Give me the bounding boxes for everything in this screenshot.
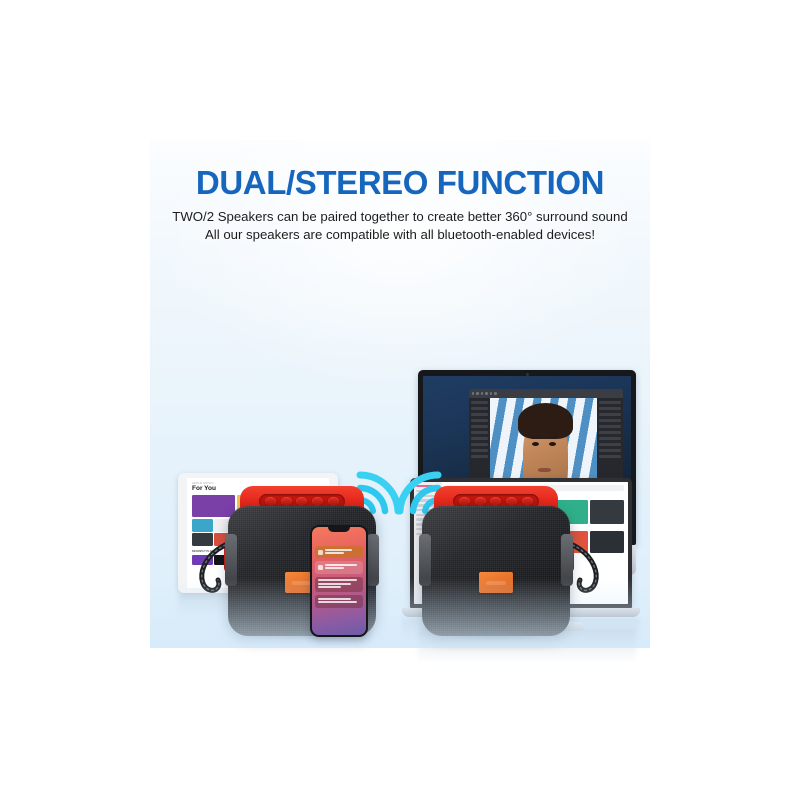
editor-titlebar xyxy=(469,389,623,398)
volume-down-button[interactable] xyxy=(475,497,486,506)
portrait-mouth xyxy=(538,468,551,472)
volume-up-button[interactable] xyxy=(506,497,517,506)
notification-card[interactable] xyxy=(315,595,363,607)
portrait-brow-right xyxy=(549,436,557,439)
portrait-eye-right xyxy=(549,442,556,446)
content-panel: DUAL/STEREO FUNCTION TWO/2 Speakers can … xyxy=(150,140,650,648)
panel-bottom-fade xyxy=(150,578,650,648)
play-pause-button[interactable] xyxy=(490,497,501,506)
volume-up-button[interactable] xyxy=(312,497,323,506)
play-pause-button[interactable] xyxy=(296,497,307,506)
bluetooth-button[interactable] xyxy=(328,497,339,506)
power-button[interactable] xyxy=(459,497,470,506)
phone-screen xyxy=(312,527,366,635)
iphone-smartphone xyxy=(310,525,368,637)
volume-down-button[interactable] xyxy=(281,497,292,506)
device-cluster: APPLE MUSIC For You RECENTLY PLAYED xyxy=(150,140,650,648)
notification-card[interactable] xyxy=(315,561,363,573)
portrait-eye-left xyxy=(532,442,539,446)
portrait-hair xyxy=(518,403,573,439)
notification-card[interactable] xyxy=(315,546,363,558)
phone-notch xyxy=(328,527,350,532)
notification-card[interactable] xyxy=(315,577,363,593)
product-infographic: DUAL/STEREO FUNCTION TWO/2 Speakers can … xyxy=(0,0,800,800)
bluetooth-button[interactable] xyxy=(522,497,533,506)
portrait-brow-left xyxy=(531,436,539,439)
power-button[interactable] xyxy=(265,497,276,506)
